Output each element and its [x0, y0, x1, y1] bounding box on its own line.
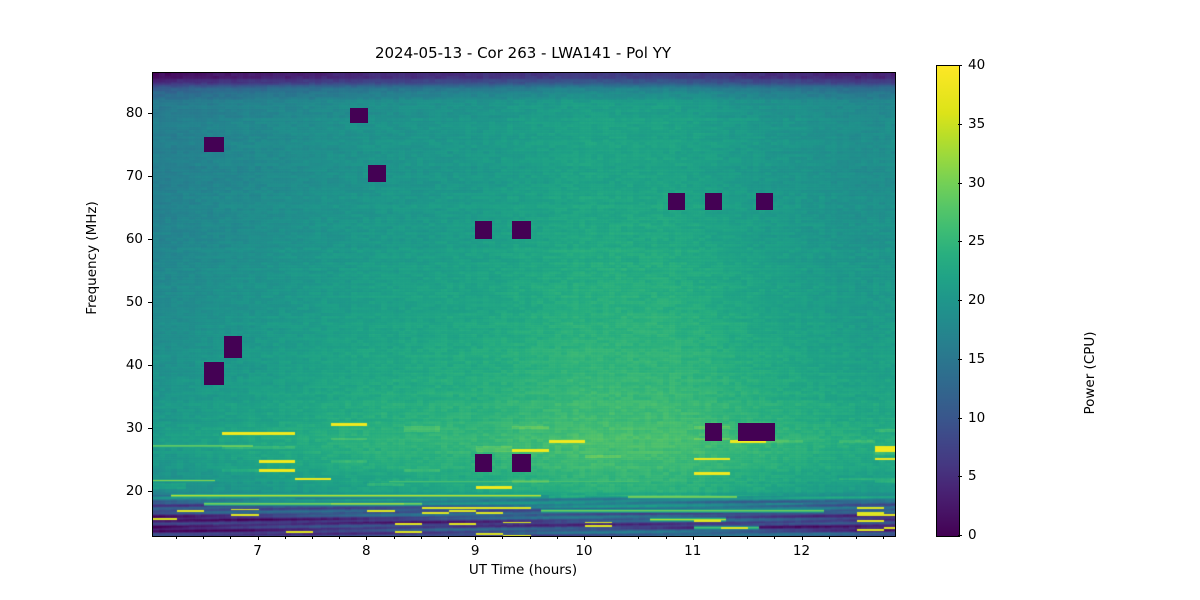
colorbar-tick — [958, 418, 962, 419]
x-axis-minor-tick — [176, 536, 177, 539]
x-axis-minor-tick — [394, 536, 395, 539]
y-axis-tick-label: 80 — [126, 105, 143, 121]
page-title: 2024-05-13 - Cor 263 - LWA141 - Pol YY — [152, 44, 894, 62]
y-axis-tick-label: 60 — [126, 231, 143, 247]
x-axis-tick — [693, 536, 694, 540]
x-axis-tick-label: 11 — [684, 543, 701, 559]
colorbar-tick-label: 30 — [968, 175, 985, 191]
y-axis-tick-label: 20 — [126, 483, 143, 499]
colorbar-tick-label: 5 — [968, 468, 977, 484]
x-axis-tick-label: 9 — [471, 543, 480, 559]
spectrogram-axes[interactable] — [152, 72, 896, 537]
colorbar-tick — [958, 65, 962, 66]
x-axis-minor-tick — [747, 536, 748, 539]
x-axis-minor-tick — [448, 536, 449, 539]
x-axis-minor-tick — [230, 536, 231, 539]
x-axis-minor-tick — [883, 536, 884, 539]
x-axis-tick — [366, 536, 367, 540]
flagged-data-block — [475, 454, 492, 472]
y-axis-tick — [148, 239, 152, 240]
colorbar-tick-label: 35 — [968, 116, 985, 132]
colorbar-tick — [958, 535, 962, 536]
colorbar-label: Power (CPU) — [1082, 273, 1098, 473]
flagged-data-block — [756, 193, 773, 209]
flagged-data-block — [350, 108, 368, 123]
x-axis-tick — [584, 536, 585, 540]
y-axis-tick-label: 40 — [126, 357, 143, 373]
y-axis-label: Frequency (MHz) — [84, 158, 100, 358]
flagged-data-block — [512, 221, 530, 239]
x-axis-minor-tick — [856, 536, 857, 539]
flagged-data-block — [705, 423, 722, 441]
x-axis-minor-tick — [666, 536, 667, 539]
y-axis-tick — [148, 302, 152, 303]
x-axis-minor-tick — [638, 536, 639, 539]
flagged-data-block — [204, 137, 224, 152]
x-axis-tick — [475, 536, 476, 540]
x-axis-minor-tick — [502, 536, 503, 539]
x-axis-minor-tick — [829, 536, 830, 539]
colorbar-tick — [958, 300, 962, 301]
x-axis-minor-tick — [774, 536, 775, 539]
flagged-data-block — [668, 193, 685, 209]
colorbar-tick — [958, 241, 962, 242]
x-axis-tick — [258, 536, 259, 540]
x-axis-tick — [802, 536, 803, 540]
colorbar-label-wrap: Power (CPU) — [990, 165, 1190, 365]
y-axis-tick — [148, 365, 152, 366]
x-axis-minor-tick — [312, 536, 313, 539]
flagged-data-block — [738, 423, 775, 441]
x-axis-label: UT Time (hours) — [152, 562, 894, 578]
x-axis-minor-tick — [285, 536, 286, 539]
x-axis-tick-label: 10 — [575, 543, 592, 559]
x-axis-minor-tick — [203, 536, 204, 539]
y-axis: 20304050607080 — [112, 72, 152, 535]
flagged-data-block — [224, 336, 242, 358]
colorbar-tick — [958, 124, 962, 125]
colorbar-tick-label: 10 — [968, 410, 985, 426]
colorbar-tick-label: 0 — [968, 527, 977, 543]
x-axis-minor-tick — [611, 536, 612, 539]
colorbar-tick-label: 40 — [968, 57, 985, 73]
x-axis-minor-tick — [421, 536, 422, 539]
flagged-data-block — [204, 362, 224, 385]
x-axis-minor-tick — [557, 536, 558, 539]
colorbar-tick-label: 15 — [968, 351, 985, 367]
y-axis-tick — [148, 428, 152, 429]
colorbar-tick-label: 20 — [968, 292, 985, 308]
flagged-data-block — [368, 165, 385, 182]
y-axis-tick — [148, 491, 152, 492]
x-axis-minor-tick — [339, 536, 340, 539]
x-axis-tick-label: 12 — [793, 543, 810, 559]
flagged-data-block — [705, 193, 722, 209]
y-axis-tick-label: 50 — [126, 294, 143, 310]
y-axis-tick — [148, 176, 152, 177]
x-axis-tick-label: 8 — [362, 543, 371, 559]
y-axis-tick-label: 70 — [126, 168, 143, 184]
flagged-data-block — [512, 454, 530, 472]
x-axis-tick-label: 7 — [253, 543, 262, 559]
colorbar-tick-label: 25 — [968, 233, 985, 249]
x-axis-minor-tick — [720, 536, 721, 539]
y-axis-tick — [148, 113, 152, 114]
colorbar-tick — [958, 183, 962, 184]
colorbar-tick — [958, 476, 962, 477]
flagged-data-block — [475, 221, 492, 239]
figure-canvas: 2024-05-13 - Cor 263 - LWA141 - Pol YY 7… — [0, 0, 1200, 600]
y-axis-tick-label: 30 — [126, 420, 143, 436]
colorbar-tick — [958, 359, 962, 360]
x-axis-minor-tick — [530, 536, 531, 539]
